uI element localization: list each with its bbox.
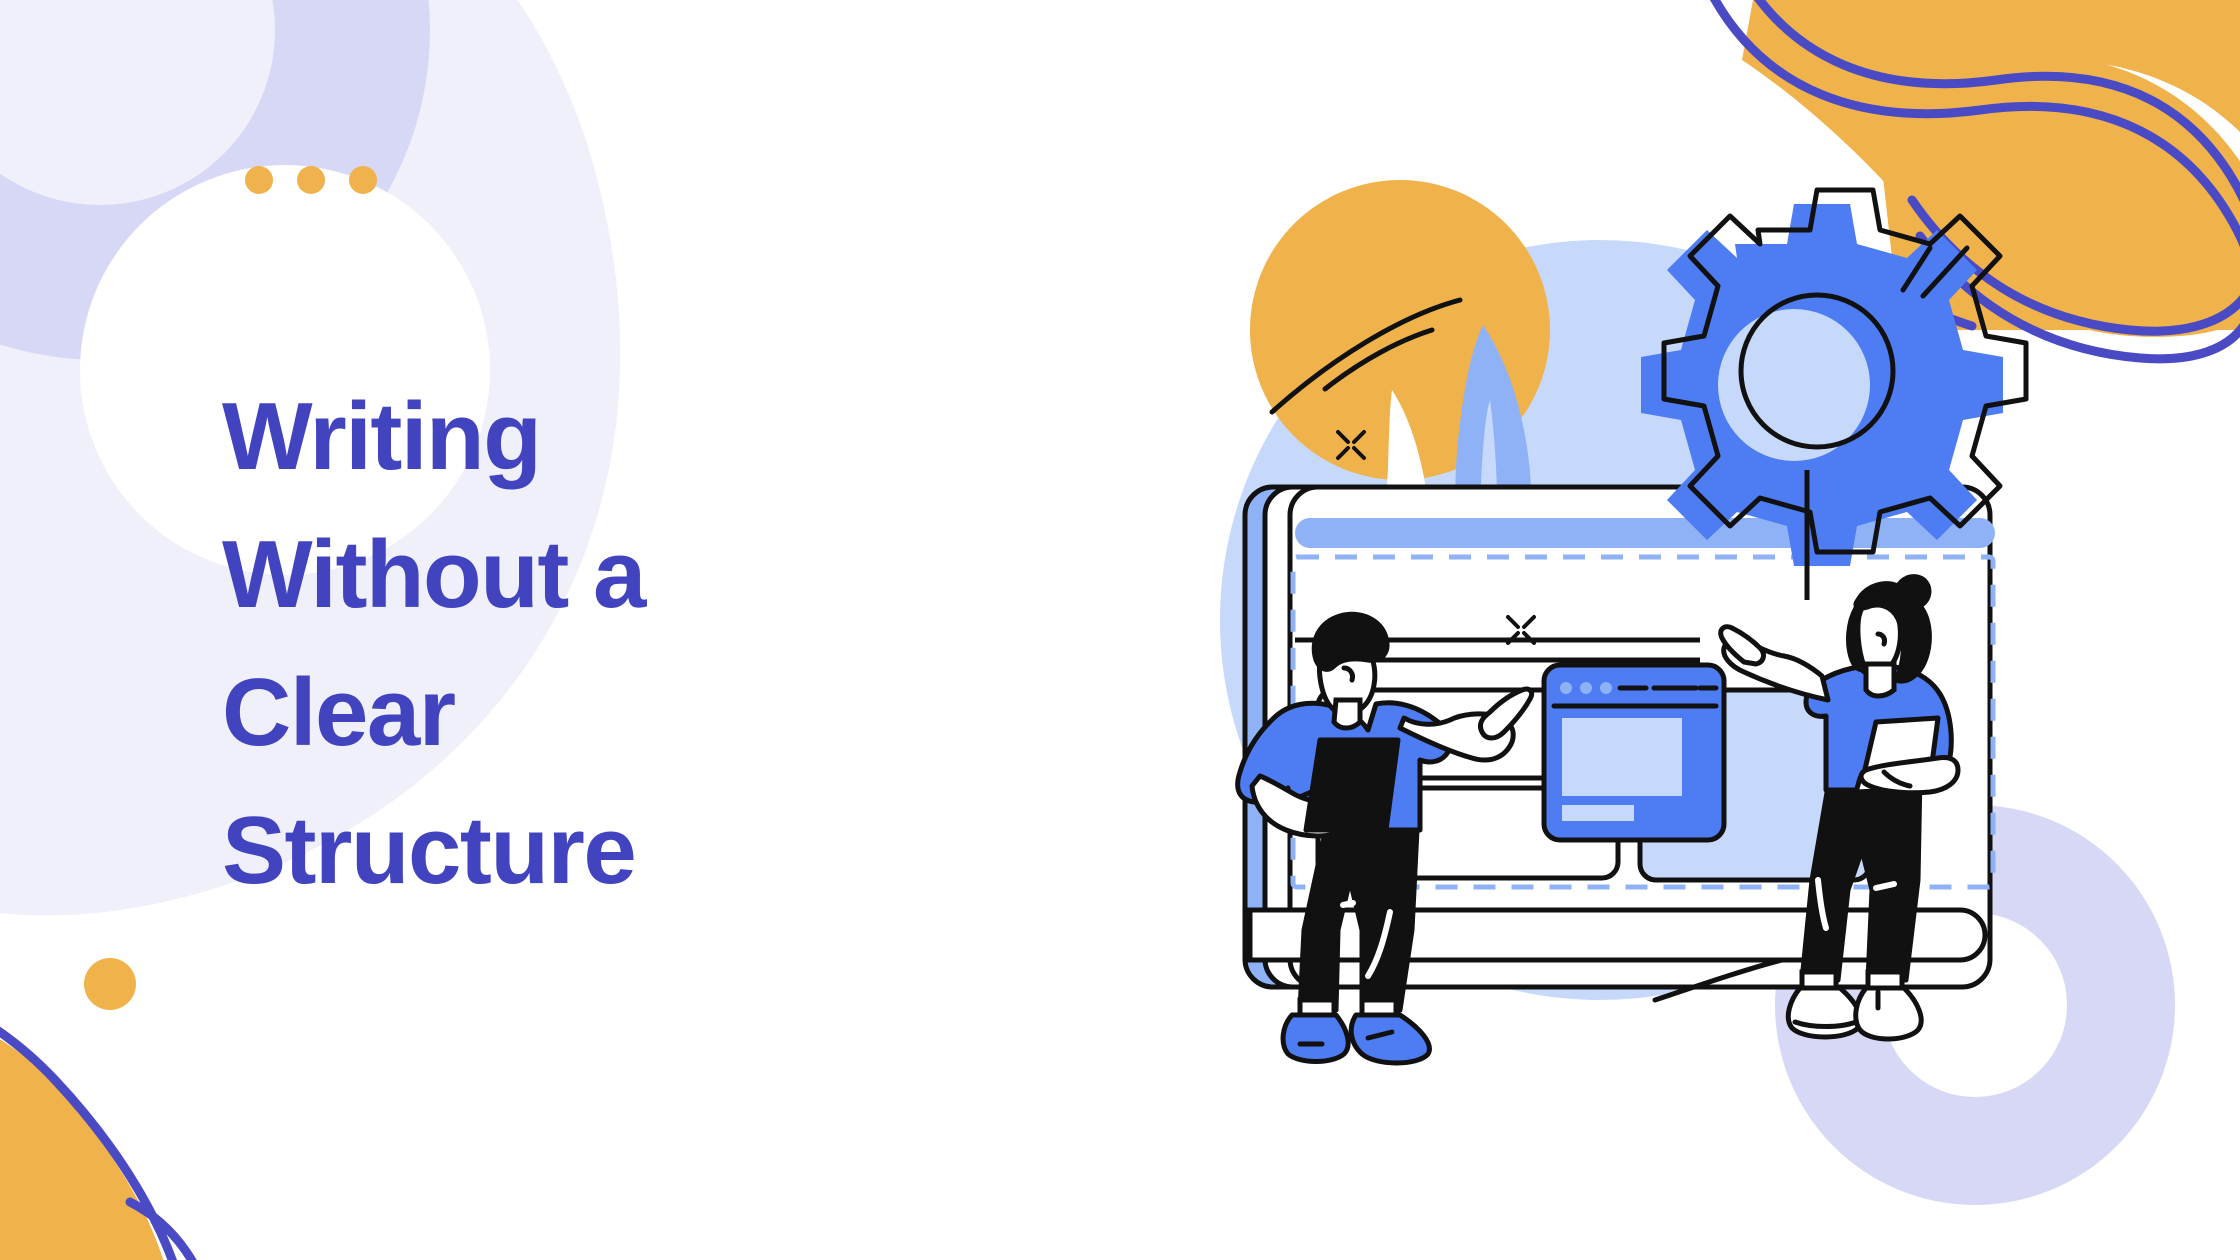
browser-viewport xyxy=(1562,718,1682,796)
browser-footer-bar xyxy=(1562,805,1634,821)
browser-dot-1 xyxy=(1560,682,1572,694)
woman-shoe-left xyxy=(1788,988,1861,1037)
man-shoe-right xyxy=(1351,1015,1429,1063)
card-header-bar xyxy=(1295,518,1995,548)
browser-dot-3 xyxy=(1600,682,1612,694)
three-dots-decoration xyxy=(245,166,377,194)
dot-3-icon xyxy=(349,166,377,194)
browser-dot-2 xyxy=(1580,682,1592,694)
woman-shoe-right xyxy=(1856,988,1921,1039)
man-tablet xyxy=(1306,740,1398,830)
headline-block: Writing Without a Clear Structure xyxy=(222,368,982,920)
man-shoe-left xyxy=(1283,1015,1348,1062)
dot-1-icon xyxy=(245,166,273,194)
page-title: Writing Without a Clear Structure xyxy=(222,368,982,920)
browser-window-mockup xyxy=(1544,665,1724,840)
dot-2-icon xyxy=(297,166,325,194)
man-hair xyxy=(1314,614,1387,669)
slide-canvas: Writing Without a Clear Structure xyxy=(0,0,2240,1260)
